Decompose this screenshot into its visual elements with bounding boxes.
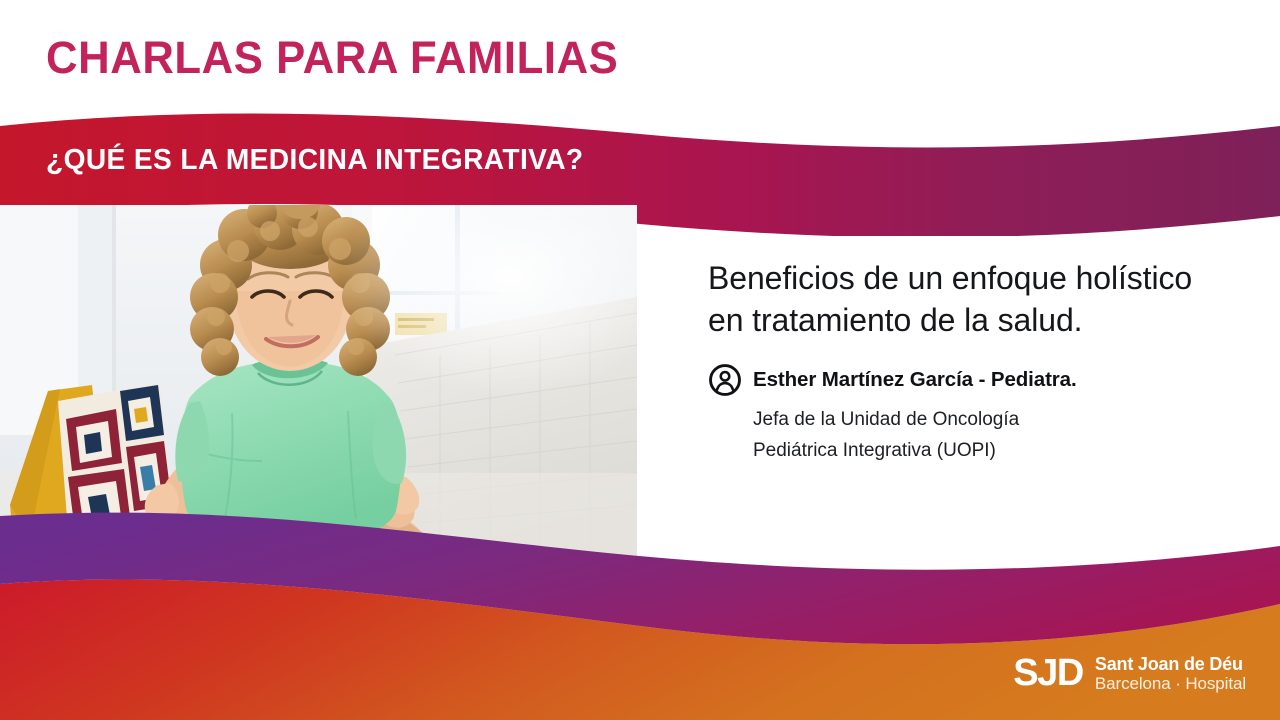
speaker-role: Jefa de la Unidad de Oncología Pediátric… [753, 405, 1228, 467]
talk-details: Beneficios de un enfoque holístico en tr… [708, 258, 1228, 467]
speaker-block: Esther Martínez García - Pediatra. Jefa … [708, 363, 1228, 467]
hospital-logo: SJD Sant Joan de Déu Barcelona · Hospita… [1013, 654, 1246, 693]
speaker-name-row: Esther Martínez García - Pediatra. [708, 363, 1228, 397]
logo-mark-sjd: SJD [1013, 654, 1083, 692]
presentation-slide: CHARLAS PARA FAMILIAS ¿QUÉ ES LA MEDICIN… [0, 0, 1280, 720]
page-title: CHARLAS PARA FAMILIAS [46, 32, 618, 84]
speaker-role-line-1: Jefa de la Unidad de Oncología [753, 405, 1228, 436]
logo-name: Sant Joan de Déu [1095, 654, 1246, 674]
logo-subtitle: Barcelona · Hospital [1095, 674, 1246, 693]
speaker-role-line-2: Pediátrica Integrativa (UOPI) [753, 436, 1228, 467]
footer-waves: SJD Sant Joan de Déu Barcelona · Hospita… [0, 480, 1280, 720]
talk-description: Beneficios de un enfoque holístico en tr… [708, 258, 1228, 341]
logo-text-lines: Sant Joan de Déu Barcelona · Hospital [1095, 654, 1246, 693]
banner-question: ¿QUÉ ES LA MEDICINA INTEGRATIVA? [46, 144, 584, 177]
speaker-name: Esther Martínez García - Pediatra. [753, 368, 1077, 392]
person-circle-icon [708, 363, 742, 397]
